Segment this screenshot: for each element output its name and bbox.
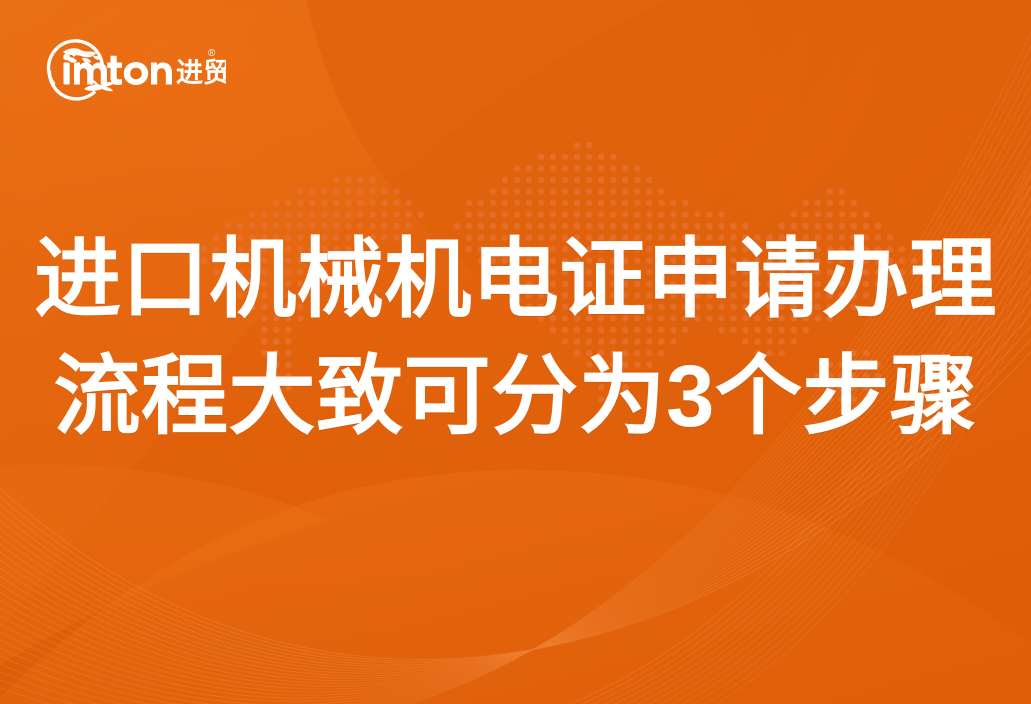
logo-wordmark (63, 54, 172, 85)
logo-trademark-symbol: ® (208, 48, 216, 59)
logo-chinese-name: 进贸通 (176, 58, 226, 89)
promo-banner: 进贸通 ® 进口机械机电证申请办理 流程大致可分为3个步骤 (0, 0, 1031, 704)
page-title: 进口机械机电证申请办理 流程大致可分为3个步骤 (0, 236, 1031, 440)
headline-line-1: 进口机械机电证申请办理 (0, 236, 1031, 323)
brand-logo[interactable]: 进贸通 ® (36, 28, 226, 106)
headline-line-2: 流程大致可分为3个步骤 (0, 353, 1031, 440)
